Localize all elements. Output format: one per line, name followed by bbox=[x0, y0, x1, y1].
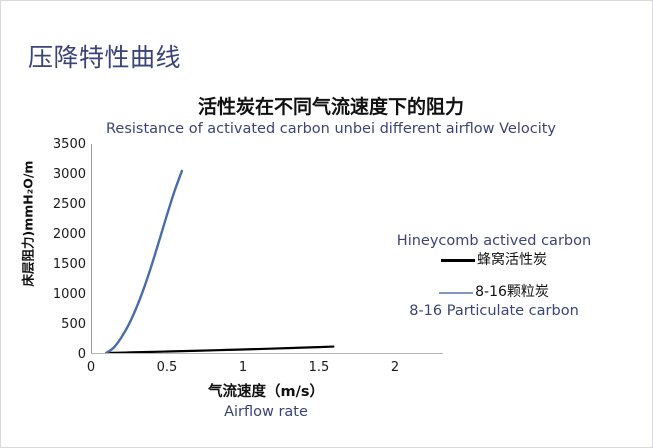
legend-item-honeycomb-english: Hineycomb actived carbon bbox=[379, 232, 609, 251]
y-tick-3500: 3500 bbox=[46, 138, 86, 151]
legend-swatch-black-icon bbox=[441, 259, 475, 262]
x-tick-0-5: 0.5 bbox=[147, 361, 187, 375]
x-axis-title-chinese: 气流速度（m/s） bbox=[121, 383, 411, 401]
y-tick-500: 500 bbox=[46, 318, 86, 331]
series-line-hineycomb-actived-carbon bbox=[106, 347, 333, 353]
y-tick-0: 0 bbox=[46, 348, 86, 361]
legend-item-particulate[interactable]: 8-16颗粒炭 bbox=[379, 283, 609, 302]
series-curves bbox=[91, 144, 394, 353]
y-axis-title: 床层阻力)mmH₂O/m bbox=[21, 149, 36, 299]
chart-title-chinese: 活性炭在不同气流速度下的阻力 bbox=[121, 95, 541, 119]
x-tick-1-5: 1.5 bbox=[299, 361, 339, 375]
legend-item-honeycomb[interactable]: 蜂窝活性炭 bbox=[379, 251, 609, 270]
pressure-drop-chart: 活性炭在不同气流速度下的阻力 Resistance of activated c… bbox=[1, 1, 653, 448]
x-tick-2: 2 bbox=[375, 361, 415, 375]
legend-item-particulate-english: 8-16 Particulate carbon bbox=[379, 302, 609, 321]
y-tick-3000: 3000 bbox=[46, 168, 86, 181]
legend-swatch-blue-icon bbox=[439, 292, 473, 294]
chart-legend: Hineycomb actived carbon 蜂窝活性炭 8-16颗粒炭 8… bbox=[379, 232, 609, 321]
y-tick-1500: 1500 bbox=[46, 258, 86, 271]
y-axis-tick-labels: 3500 3000 2500 2000 1500 1000 500 0 bbox=[41, 1, 86, 448]
plot-area bbox=[91, 144, 394, 353]
y-tick-2500: 2500 bbox=[46, 198, 86, 211]
y-tick-2000: 2000 bbox=[46, 228, 86, 241]
x-axis-line bbox=[91, 353, 443, 354]
slide-canvas: 压降特性曲线 活性炭在不同气流速度下的阻力 Resistance of acti… bbox=[0, 0, 653, 448]
legend-item-particulate-chinese: 8-16颗粒炭 bbox=[475, 283, 549, 302]
x-axis-title-english: Airflow rate bbox=[121, 403, 411, 421]
series-line-8-16-particulate-carbon bbox=[106, 171, 182, 353]
chart-subtitle-english: Resistance of activated carbon unbei dif… bbox=[86, 120, 576, 138]
legend-spacer bbox=[379, 270, 609, 283]
y-tick-1000: 1000 bbox=[46, 288, 86, 301]
y-axis-title-text: 床层阻力)mmH₂O/m bbox=[21, 161, 36, 287]
legend-item-honeycomb-chinese: 蜂窝活性炭 bbox=[477, 251, 547, 270]
x-tick-0: 0 bbox=[71, 361, 111, 375]
x-tick-1: 1 bbox=[223, 361, 263, 375]
